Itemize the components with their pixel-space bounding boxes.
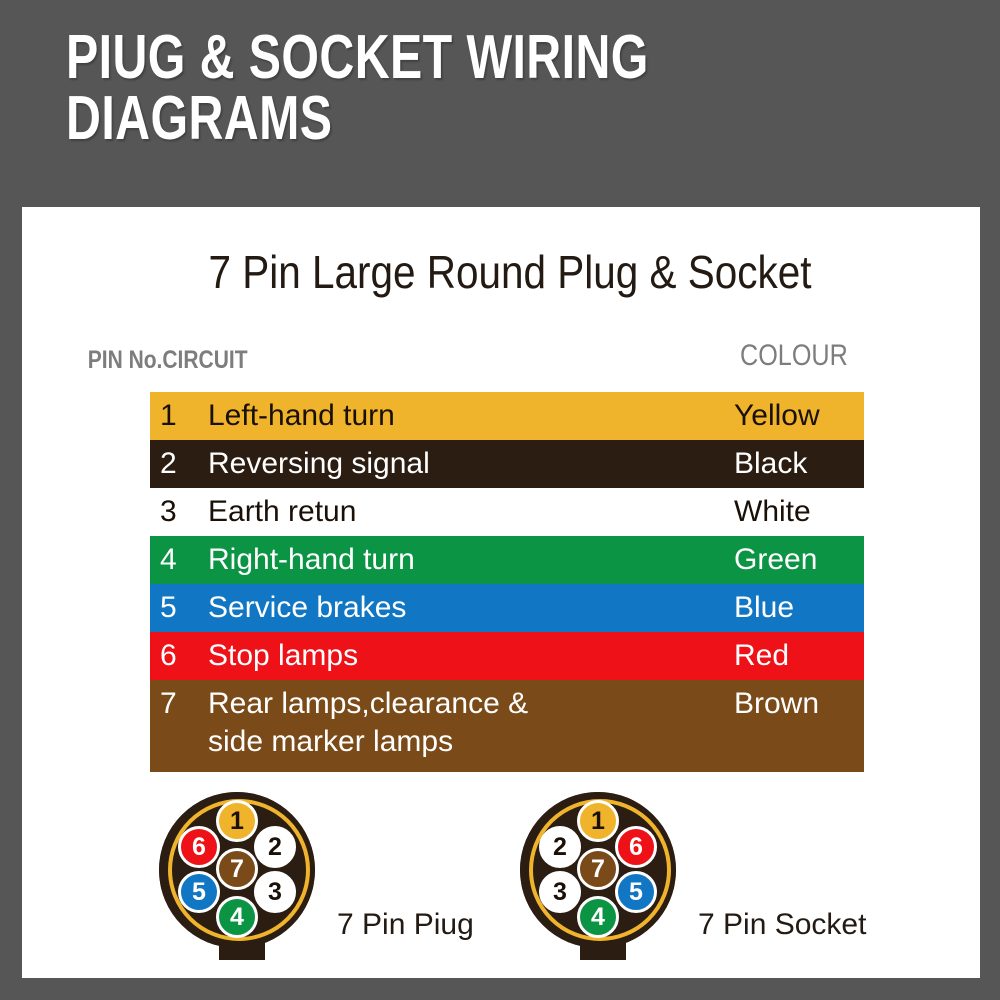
page-title: PIUG & SOCKET WIRING DIAGRAMS bbox=[66, 28, 737, 150]
column-header-colour: COLOUR bbox=[740, 339, 848, 373]
table-row: 5Service brakesBlue bbox=[150, 584, 864, 632]
connector-pin-2: 2 bbox=[254, 826, 296, 868]
header: PIUG & SOCKET WIRING DIAGRAMS bbox=[66, 28, 926, 150]
connector-pin-3: 3 bbox=[254, 871, 296, 913]
table-row: 2Reversing signalBlack bbox=[150, 440, 864, 488]
connector-pin-1: 1 bbox=[216, 800, 258, 842]
connector-pin-4: 4 bbox=[216, 896, 258, 938]
cell-circuit: Earth retun bbox=[208, 493, 356, 531]
cell-colour: Green bbox=[734, 542, 817, 578]
connector-body: 1234567 bbox=[520, 792, 676, 948]
content-card: 7 Pin Large Round Plug & Socket PIN No.C… bbox=[22, 207, 980, 978]
connector-caption: 7 Pin Piug bbox=[337, 908, 474, 942]
connector-pin-4: 4 bbox=[577, 896, 619, 938]
connector-caption: 7 Pin Socket bbox=[698, 908, 866, 942]
cell-circuit: Stop lamps bbox=[208, 637, 358, 675]
section-heading: 7 Pin Large Round Plug & Socket bbox=[193, 245, 827, 299]
cell-colour: Yellow bbox=[734, 398, 820, 434]
connector-plug-diagram: 12345677 Pin Piug bbox=[157, 792, 327, 970]
cell-circuit: Right-hand turn bbox=[208, 541, 415, 579]
cell-circuit: Reversing signal bbox=[208, 445, 430, 483]
cell-pin-number: 6 bbox=[160, 638, 194, 674]
connector-pin-5: 5 bbox=[178, 871, 220, 913]
connector-body: 1234567 bbox=[159, 792, 315, 948]
table-row: 4Right-hand turnGreen bbox=[150, 536, 864, 584]
cell-circuit: Rear lamps,clearance & side marker lamps bbox=[208, 685, 528, 761]
connector-pin-1: 1 bbox=[577, 800, 619, 842]
wiring-table: 1Left-hand turnYellow2Reversing signalBl… bbox=[150, 392, 864, 772]
cell-pin-number: 4 bbox=[160, 542, 194, 578]
table-row: 6Stop lampsRed bbox=[150, 632, 864, 680]
table-row: 3Earth retunWhite bbox=[150, 488, 864, 536]
cell-colour: Brown bbox=[734, 686, 819, 722]
connector-pin-3: 3 bbox=[539, 871, 581, 913]
connector-pin-7: 7 bbox=[577, 848, 619, 890]
cell-circuit: Left-hand turn bbox=[208, 397, 395, 435]
cell-pin-number: 1 bbox=[160, 398, 194, 434]
connector-pin-6: 6 bbox=[178, 826, 220, 868]
cell-circuit: Service brakes bbox=[208, 589, 406, 627]
table-row: 7Rear lamps,clearance & side marker lamp… bbox=[150, 680, 864, 772]
wiring-diagram-page: PIUG & SOCKET WIRING DIAGRAMS 7 Pin Larg… bbox=[0, 0, 1000, 1000]
connector-pin-6: 6 bbox=[615, 826, 657, 868]
cell-colour: Black bbox=[734, 446, 807, 482]
cell-colour: Blue bbox=[734, 590, 794, 626]
cell-colour: Red bbox=[734, 638, 789, 674]
cell-pin-number: 5 bbox=[160, 590, 194, 626]
connector-pin-5: 5 bbox=[615, 871, 657, 913]
table-row: 1Left-hand turnYellow bbox=[150, 392, 864, 440]
table-column-headers: PIN No.CIRCUIT COLOUR bbox=[150, 339, 864, 379]
connector-pin-2: 2 bbox=[539, 826, 581, 868]
connector-pin-7: 7 bbox=[216, 848, 258, 890]
cell-pin-number: 2 bbox=[160, 446, 194, 482]
cell-pin-number: 3 bbox=[160, 494, 194, 530]
connector-socket-diagram: 12345677 Pin Socket bbox=[518, 792, 688, 970]
column-header-pin-circuit: PIN No.CIRCUIT bbox=[150, 339, 185, 381]
cell-pin-number: 7 bbox=[160, 686, 194, 722]
cell-colour: White bbox=[734, 494, 811, 530]
